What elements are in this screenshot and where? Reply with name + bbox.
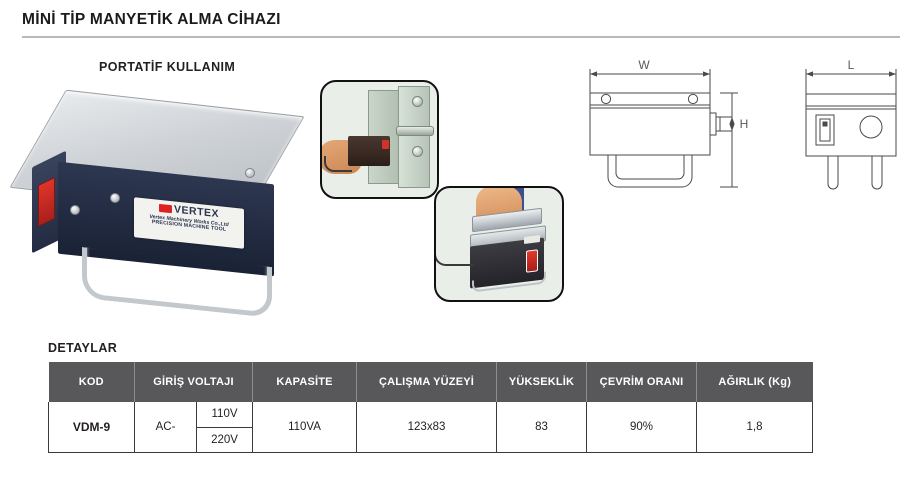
front-view-svg: W H [572,55,754,255]
cell-yukseklik: 83 [497,402,587,453]
header-kapasite: KAPASİTE [253,362,357,402]
cell-cevrim-orani: 90% [587,402,697,453]
cell-agirlik: 1,8 [697,402,813,453]
cell-calisma-yuzeyi: 123x83 [357,402,497,453]
screw-icon [70,205,80,215]
cell-kapasite: 110VA [253,402,357,453]
specifications-table: KOD GİRİŞ VOLTAJI KAPASİTE ÇALIŞMA YÜZEY… [48,362,813,453]
header-yukseklik: YÜKSEKLİK [497,362,587,402]
header-kod: KOD [49,362,135,402]
voltage-option: 110V [197,402,252,427]
vertex-logo-icon [159,204,172,213]
screw-circle [601,94,610,103]
switch-indicator [823,122,827,126]
workpiece-rod [396,126,434,136]
details-heading: DETAYLAR [48,341,117,355]
title-divider [22,36,900,38]
product-power-switch [38,177,55,227]
header-cevrim-orani: ÇEVRİM ORANI [587,362,697,402]
screw-circle [688,94,697,103]
voltage-option: 220V [197,427,252,452]
height-label: H [740,117,749,131]
cell-kod: VDM-9 [49,402,135,453]
voltage-options-table: 110V 220V [197,402,252,452]
table-header-row: KOD GİRİŞ VOLTAJI KAPASİTE ÇALIŞMA YÜZEY… [49,362,813,402]
bolt-icon [412,96,423,107]
power-cable [434,246,474,266]
photo-caption: PORTATİF KULLANIM [99,60,235,74]
side-view-svg: L [772,55,917,255]
power-cable [324,156,352,172]
cell-voltaj-options: 110V 220V [197,402,253,453]
technical-drawing-front-view: W H [572,55,754,255]
length-label: L [848,58,855,72]
bolt-icon [412,146,423,157]
technical-drawing-side-view: L [772,55,917,255]
screw-icon [110,193,120,203]
usage-photo-lifting-plate [434,186,564,302]
page-title: MİNİ TİP MANYETİK ALMA CİHAZI [22,11,281,29]
device-switch-indicator [382,140,389,149]
table-row: VDM-9 AC- 110V 220V 110VA 123x83 83 90% … [49,402,813,453]
product-spec-page: { "page": { "title": "MİNİ TİP MANYETİK … [0,0,917,492]
header-giris-voltaji: GİRİŞ VOLTAJI [135,362,253,402]
header-calisma-yuzeyi: ÇALIŞMA YÜZEYİ [357,362,497,402]
usage-photo-vertical-mount [320,80,439,199]
product-photo: VERTEX Vertex Machinery Works Co.,Ltd PR… [22,85,307,300]
width-label: W [638,58,650,72]
cell-voltaj-prefix: AC- [135,402,197,453]
screw-icon [245,168,255,178]
device-power-switch [526,249,538,272]
round-port [860,116,882,138]
header-agirlik: AĞIRLIK (Kg) [697,362,813,402]
